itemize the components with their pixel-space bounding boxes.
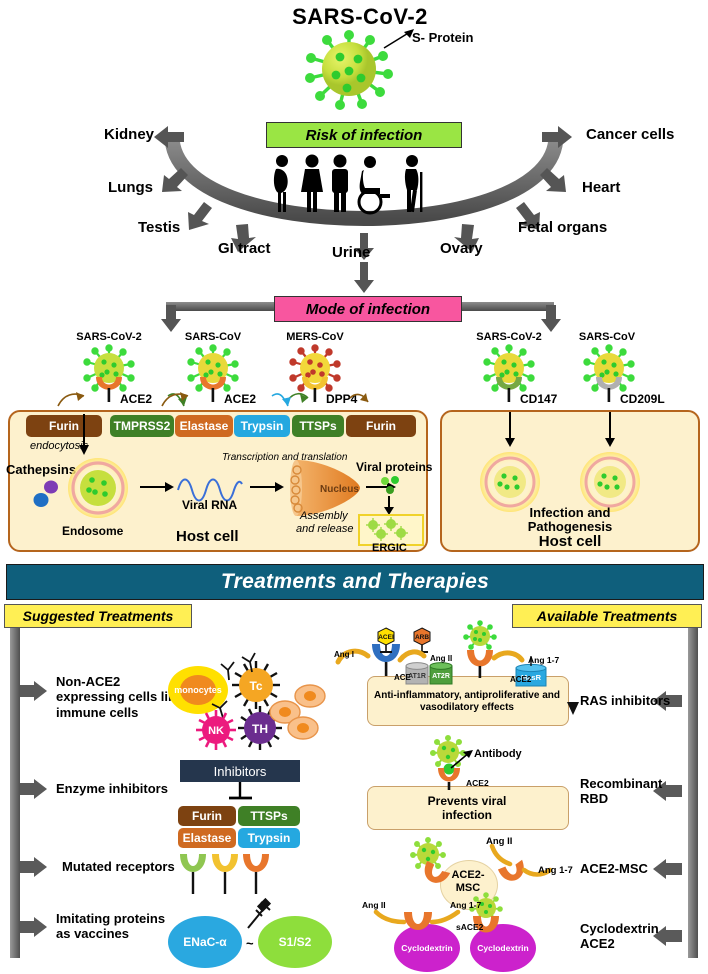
ergic-label: ERGIC (372, 542, 407, 554)
virus-label-sars-cov-right: SARS-CoV (564, 331, 650, 343)
viral-rna-label: Viral RNA (182, 498, 237, 512)
inhibitor-pill-ttsps: TTSPs (238, 806, 300, 826)
arrow-urine-to-mode (352, 262, 376, 294)
arrow-mode-right (540, 305, 562, 333)
organ-label-fetal-organs: Fetal organs (518, 219, 607, 236)
rbd-antibody-graphic (424, 738, 504, 790)
suggested-item-label-4: Imitating proteins as vaccines (56, 911, 165, 942)
cathepsin-dots-icon (32, 478, 64, 510)
endocytosis-arrow (79, 414, 89, 456)
cyclo-label-ang17: Ang 1-7 (450, 900, 481, 910)
viral-rna-icon (176, 472, 244, 498)
receptor-label-cd147: CD147 (520, 392, 557, 406)
suggested-item-4-line2: as vaccines (56, 926, 165, 941)
svg-text:ACEI: ACEI (378, 634, 394, 641)
endosome-icon (62, 456, 134, 524)
assembly-label-line1: Assembly (300, 510, 348, 522)
vaccine-tilde: ~ (246, 936, 254, 951)
available-item-4-line1: Cyclodextrin (580, 921, 659, 936)
inhibitor-pill-elastase: Elastase (178, 828, 236, 848)
arrow-mode-left (160, 305, 182, 333)
cyclodextrin-label-left: Cyclodextrin (401, 943, 453, 953)
virus-label-sars-cov-left: SARS-CoV (170, 331, 256, 343)
arrow-endosome-to-rna (140, 482, 174, 492)
assembly-label-line2: and release (296, 523, 354, 535)
cyclodextrin-label-right: Cyclodextrin (477, 943, 529, 953)
syringe-icon (242, 898, 274, 932)
available-item-2-line2: RBD (580, 791, 662, 806)
spike-protein-label: S- Protein (412, 30, 473, 45)
arrow-cd147-entry (505, 412, 515, 448)
vaccine-enac-bubble: ENaC-α (168, 916, 242, 968)
arrow-cd209l-entry (605, 412, 615, 448)
ras-masr-down-arrow (567, 700, 579, 716)
organ-label-cancer-cells: Cancer cells (586, 126, 674, 143)
suggested-item-label-3: Mutated receptors (62, 859, 175, 874)
arrow-available-3 (652, 858, 682, 880)
msc-label-ang2: Ang II (486, 836, 512, 847)
pregnant-woman-icon (274, 155, 288, 212)
rbd-antibody-label: Antibody (474, 748, 522, 760)
inhibitors-tee-connector (228, 782, 256, 804)
arrow-suggested-1 (20, 680, 48, 702)
ras-label-ace2: ACE2 (510, 675, 531, 684)
cyclo-label-sace2: sACE2 (456, 922, 483, 932)
available-treatments-header: Available Treatments (512, 604, 702, 628)
treatments-banner: Treatments and Therapies (6, 564, 704, 600)
arrow-heart (538, 166, 568, 196)
woman-icon (301, 155, 323, 213)
available-item-label-2: Recombinant RBD (580, 776, 662, 807)
virus-label-mers-cov: MERS-CoV (272, 331, 358, 343)
svg-text:Nucleus: Nucleus (320, 484, 359, 495)
svg-text:Tc: Tc (249, 679, 262, 693)
ras-label-ang2: Ang II (430, 654, 452, 663)
host-cell-label-left: Host cell (176, 528, 239, 545)
suggested-item-label-2: Enzyme inhibitors (56, 781, 168, 796)
available-item-4-line2: ACE2 (580, 936, 659, 951)
available-rail (688, 628, 698, 958)
mode-of-infection-box: Mode of infection (274, 296, 462, 322)
available-item-label-4: Cyclodextrin ACE2 (580, 921, 659, 952)
arrow-lungs (160, 166, 190, 196)
ras-label-ang1: Ang I (334, 650, 354, 659)
infection-pathogenesis-line1: Infection and (500, 505, 640, 520)
enzyme-pill-furin-2: Furin (346, 415, 416, 437)
available-item-2-line1: Recombinant (580, 776, 662, 791)
inhibitor-pill-furin: Furin (178, 806, 236, 826)
suggested-item-4-line1: Imitating proteins (56, 911, 165, 926)
enzyme-pill-elastase: Elastase (175, 415, 233, 437)
enzyme-pill-furin-1: Furin (26, 415, 102, 437)
svg-text:NK: NK (208, 725, 224, 737)
mutated-receptors-icons (178, 852, 274, 900)
suggested-treatments-header: Suggested Treatments (4, 604, 192, 628)
wheelchair-person-icon (359, 156, 390, 213)
arrow-proteins-to-ergic (384, 496, 394, 516)
enzyme-curve-arrows (50, 370, 380, 410)
elderly-person-icon (405, 155, 422, 212)
enzyme-pill-trypsin: Trypsin (234, 415, 290, 437)
ras-label-ang17: Ang 1-7 (528, 655, 559, 665)
cyclo-label-ang2: Ang II (362, 900, 386, 910)
arrow-suggested-4 (20, 916, 48, 938)
organ-label-lungs: Lungs (108, 179, 153, 196)
svg-text:monocytes: monocytes (174, 685, 222, 695)
organ-label-urine: Urine (332, 244, 370, 261)
ras-effects-line1: Anti-inflammatory, antiproliferative and (367, 690, 567, 701)
available-item-label-3: ACE2-MSC (580, 861, 648, 876)
ras-effects-line2: vasodilatory effects (367, 702, 567, 713)
organ-label-heart: Heart (582, 179, 620, 196)
inhibitor-pill-trypsin: Trypsin (238, 828, 300, 848)
page-title: SARS-CoV-2 (260, 4, 460, 30)
svg-text:TH: TH (252, 722, 268, 736)
arrow-testis (186, 200, 216, 232)
svg-text:ARB: ARB (415, 634, 429, 641)
rbd-prevents-line2: infection (367, 808, 567, 822)
organ-label-gi-tract: GI tract (218, 240, 271, 257)
viral-protein-dots-icon (380, 476, 402, 498)
organ-label-ovary: Ovary (440, 240, 483, 257)
arrow-cancer-cells (540, 124, 574, 150)
viral-proteins-label: Viral proteins (356, 460, 432, 474)
immune-cells-cluster: monocytes Tc (158, 652, 328, 752)
available-item-label-1: RAS inhibitors (580, 693, 670, 708)
virus-label-sars-cov-2-right: SARS-CoV-2 (466, 331, 552, 343)
msc-label-ang17: Ang 1-7 (538, 865, 573, 876)
arrow-suggested-3 (20, 856, 48, 878)
svg-text:AT2R: AT2R (432, 673, 450, 680)
suggested-rail (10, 628, 20, 958)
organ-label-kidney: Kidney (104, 126, 154, 143)
enzyme-pill-tmprss2: TMPRSS2 (110, 415, 174, 437)
virus-label-sars-cov-2-left: SARS-CoV-2 (66, 331, 152, 343)
nucleus-icon: Nucleus (286, 458, 364, 518)
infection-pathogenesis-line2: Pathogenesis (500, 519, 640, 534)
people-at-risk-icons (270, 154, 460, 216)
arrow-suggested-2 (20, 778, 48, 800)
endosome-label: Endosome (62, 524, 123, 538)
rbd-ace2-label: ACE2 (466, 778, 489, 788)
organ-label-testis: Testis (138, 219, 180, 236)
receptor-label-cd209l: CD209L (620, 392, 665, 406)
spike-protein-pointer (382, 28, 416, 50)
vaccine-s1s2-label: S1/S2 (279, 935, 312, 949)
enzyme-pill-ttsps: TTSPs (292, 415, 344, 437)
inhibitors-title-box: Inhibitors (180, 760, 300, 782)
host-cell-label-right: Host cell (500, 533, 640, 550)
vaccine-enac-label: ENaC-α (183, 935, 226, 949)
ras-label-ace: ACE (394, 673, 411, 682)
man-icon (332, 155, 348, 213)
rbd-prevents-line1: Prevents viral (367, 794, 567, 808)
arrow-kidney (152, 124, 186, 150)
arrow-rna-to-nucleus (250, 482, 284, 492)
